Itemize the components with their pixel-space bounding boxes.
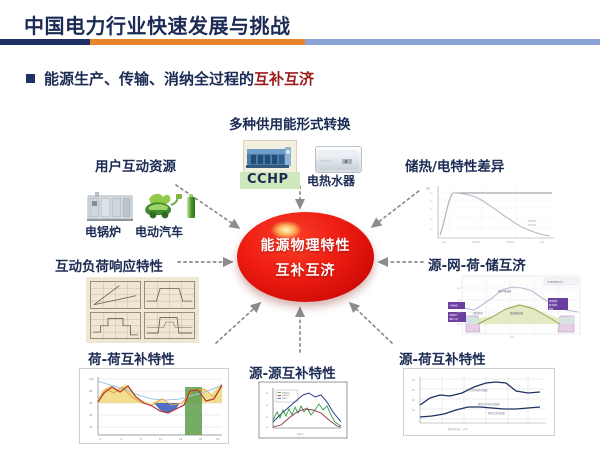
node-label-user-interactive-resources: 用户互动资源 [95,155,176,175]
water-heater-icon [315,146,362,173]
svg-text:800: 800 [457,288,462,290]
caption-cchp: CCHP [247,172,289,187]
bullet-square-icon [26,74,35,83]
svg-text:16: 16 [179,437,183,441]
svg-text:600: 600 [457,300,462,302]
svg-text:时间: 时间 [510,335,514,339]
chiller-icon [243,140,297,174]
center-node-line2: 互补互济 [276,260,336,280]
chart-panel-pulse-wide [144,281,195,309]
chart-source-load-complementarity: 典型日用电负荷曲线 典型日用电负荷曲线 典型日发电曲线 80604020 典型日… [403,368,555,436]
page-title: 中国电力行业快速发展与挑战 [24,10,291,39]
node-label-interactive-load-response: 互动负荷响应特性 [55,255,163,275]
node-label-source-source-complementarity: 源-源互补特性 [249,362,336,382]
electric-vehicle-icon [143,190,199,222]
node-label-source-load-complementarity: 源-荷互补特性 [399,348,486,368]
caption-water-heater: 电热水器 [307,172,355,189]
svg-text:60: 60 [89,401,93,405]
bullet-text-highlight: 互补互济 [254,70,314,88]
center-node-line1: 能源物理特性 [261,235,351,255]
svg-text:12: 12 [159,437,163,441]
svg-text:三联供供冷: 三联供供冷 [472,311,484,315]
svg-text:典型日用电负荷曲线: 典型日用电负荷曲线 [478,402,500,406]
slide-canvas: 中国电力行业快速发展与挑战 能源生产、传输、消纳全过程的互补互济 [0,0,600,450]
svg-text:典型日时段（小时）: 典型日时段（小时） [448,427,470,431]
svg-text:200: 200 [457,324,462,326]
bullet-text: 能源生产、传输、消纳全过程的互补互济 [44,68,314,89]
svg-text:20: 20 [199,437,203,441]
chart-heat-electric-storage-difference: 容量 1008060 4020 充电恒功率段 自放电段末段 储热特性 储电特性 [420,178,560,250]
divider-segment-navy [0,39,90,45]
svg-text:40: 40 [89,413,93,417]
electric-boiler-icon [86,190,134,222]
caption-electric-boiler: 电锅炉 [85,223,121,240]
chart-panel-staircase [90,312,141,340]
svg-text:100: 100 [89,377,94,381]
svg-text:80: 80 [89,389,93,393]
svg-text:相变储能曲线: 相变储能曲线 [510,311,524,315]
divider-segment-blue [305,39,600,45]
header-divider [0,39,600,45]
node-label-heat-electric-storage-difference: 储热/电特性差异 [405,155,504,175]
svg-text:典型日用电负荷曲线: 典型日用电负荷曲线 [466,388,488,392]
svg-text:24: 24 [216,437,220,441]
svg-text:绿色用能曲线: 绿色用能曲线 [498,289,512,293]
svg-text:20: 20 [89,425,93,429]
svg-text:100: 100 [429,193,434,195]
center-node: 能源物理特性 互补互济 [237,212,374,302]
bullet-text-main: 能源生产、传输、消纳全过程的 [44,70,254,88]
node-label-energy-conversion: 多种供用能形式转换 [229,113,351,133]
divider-segment-orange [90,39,305,45]
node-label-source-grid-load-storage: 源-网-荷-储互济 [428,254,526,274]
bullet-line: 能源生产、传输、消纳全过程的互补互济 [26,68,314,89]
chart-panel-ramp [90,281,141,309]
chart-panel-pulse-narrow [144,312,195,340]
chart-source-source-complementarity: 风电出力光伏出力总出力 80604020 时间(h) [258,381,348,439]
node-label-load-load-complementarity: 荷-荷互补特性 [88,348,175,368]
chart-interactive-load-response [86,277,199,343]
chart-source-grid-load-storage: 综合能源系统运行 余热回收 电能替代 储热/余热 相变储能 蓄冷蓄热 削峰 绿色… [448,274,586,346]
caption-electric-vehicle: 电动汽车 [135,223,183,240]
svg-text:典型日发电曲线: 典型日发电曲线 [488,411,505,415]
chart-load-load-complementarity: 1008060 4020 048 121620 24 [79,368,229,444]
